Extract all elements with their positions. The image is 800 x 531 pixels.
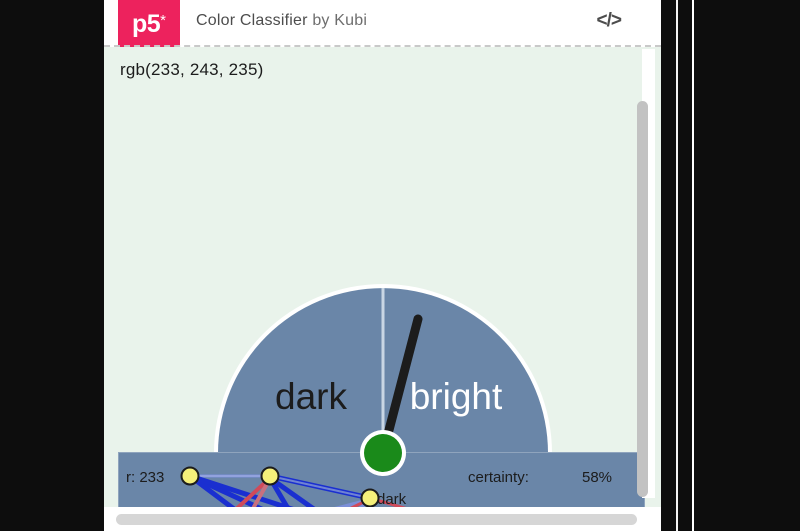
horizontal-scrollbar-track[interactable]: [104, 507, 661, 531]
certainty-value: 58%: [582, 469, 612, 486]
network-node-output: [362, 490, 379, 507]
network-output-label: dark: [377, 491, 406, 507]
screenshot-root: p5* Color Classifier by Kubi </> rgb(233…: [0, 0, 800, 531]
p5-logo[interactable]: p5*: [118, 0, 180, 47]
gauge-label-bright: bright: [410, 376, 503, 417]
frame-right-band: [661, 0, 800, 531]
vertical-scrollbar-track[interactable]: [642, 49, 655, 498]
p5-logo-star-icon: *: [160, 12, 166, 29]
frame-seam-left: [676, 0, 678, 531]
sketch-title: Color Classifier by Kubi: [196, 12, 367, 30]
network-node-hidden: [262, 468, 279, 485]
gauge-label-dark: dark: [275, 376, 347, 417]
classifier-gauge: dark bright: [104, 47, 661, 507]
sketch-window: p5* Color Classifier by Kubi </> rgb(233…: [104, 0, 661, 531]
horizontal-scrollbar-thumb[interactable]: [116, 514, 637, 525]
sketch-by-word: by: [312, 12, 329, 29]
sketch-title-text: Color Classifier: [196, 12, 308, 29]
sketch-author: Kubi: [334, 12, 367, 29]
view-code-icon[interactable]: </>: [597, 10, 621, 32]
sketch-header: p5* Color Classifier by Kubi </>: [104, 0, 661, 47]
vertical-scrollbar-thumb[interactable]: [637, 101, 648, 497]
p5-canvas[interactable]: rgb(233, 243, 235) dark bright: [104, 47, 661, 507]
network-node-input: [182, 468, 199, 485]
certainty-label: certainty:: [468, 469, 529, 486]
frame-seam-right: [692, 0, 694, 531]
p5-logo-text: p5: [132, 12, 160, 37]
frame-left-band: [0, 0, 104, 531]
network-panel: r: 233 dark certainty: 58%: [118, 452, 645, 507]
network-input-label: r: 233: [126, 469, 164, 486]
